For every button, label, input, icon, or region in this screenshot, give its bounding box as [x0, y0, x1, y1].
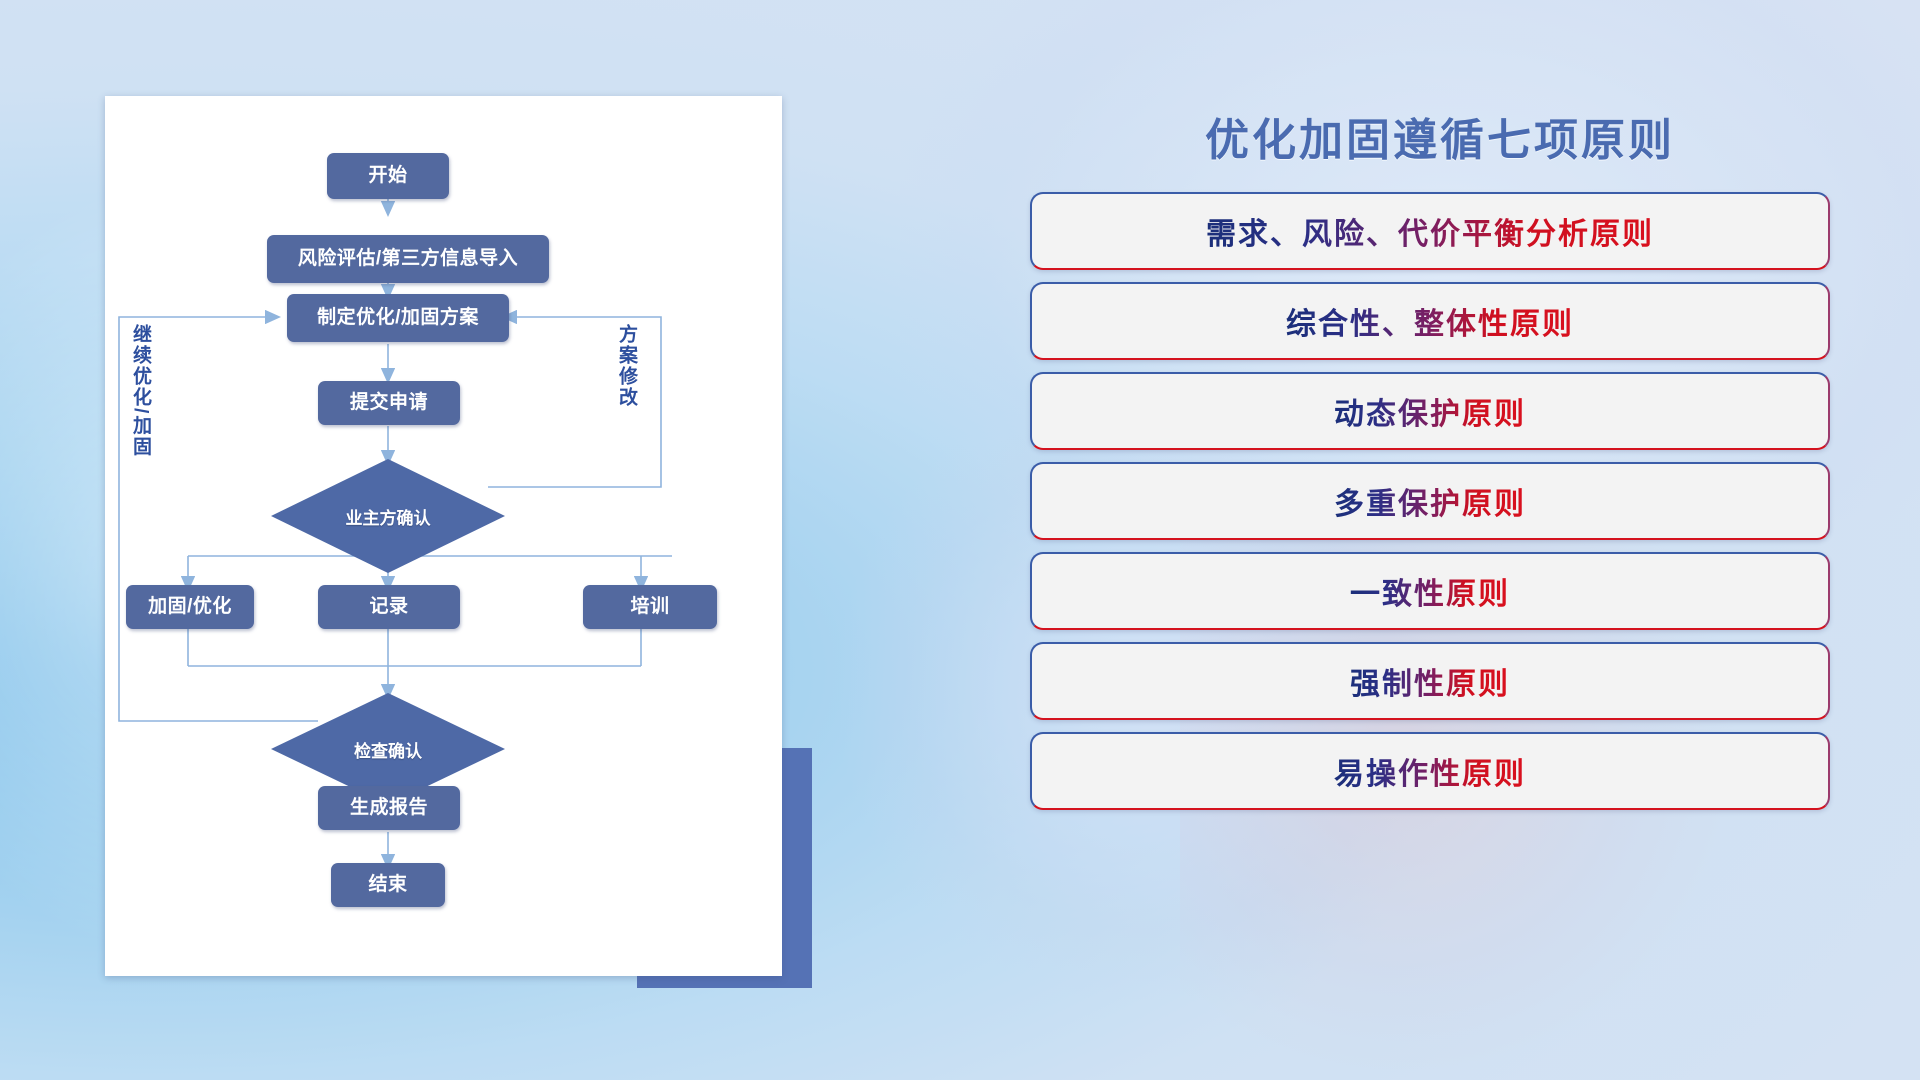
- principle-card-label: 多重保护原则: [1334, 479, 1526, 523]
- principles-panel: 优化加固遵循七项原则 需求、风险、代价平衡分析原则 综合性、整体性原则 动态保护…: [1020, 70, 1860, 1030]
- flow-node-generate-report[interactable]: 生成报告: [318, 786, 460, 830]
- flow-node-label: 结束: [368, 875, 407, 896]
- flow-node-reinforce-optimize[interactable]: 加固/优化: [126, 585, 254, 629]
- flow-node-submit-application[interactable]: 提交申请: [318, 381, 460, 425]
- flow-edge-label-continue-optimize: 继续优化/加固: [127, 324, 154, 457]
- flow-node-training[interactable]: 培训: [583, 585, 717, 629]
- flowchart-canvas: 开始 风险评估/第三方信息导入 制定优化/加固方案 提交申请 业主方确认 加固/…: [105, 96, 782, 976]
- flow-node-label: 加固/优化: [148, 597, 232, 618]
- flow-node-label: 培训: [630, 597, 669, 618]
- principle-card-3[interactable]: 动态保护原则: [1030, 372, 1830, 450]
- flow-node-label: 业主方确认: [346, 504, 431, 529]
- principle-card-label: 强制性原则: [1350, 659, 1510, 703]
- principle-card-7[interactable]: 易操作性原则: [1030, 732, 1830, 810]
- flow-node-record[interactable]: 记录: [318, 585, 460, 629]
- principle-card-4[interactable]: 多重保护原则: [1030, 462, 1830, 540]
- principle-card-label: 需求、风险、代价平衡分析原则: [1206, 209, 1654, 253]
- flow-node-label: 检查确认: [354, 737, 422, 762]
- flow-node-label: 提交申请: [350, 393, 428, 414]
- flow-node-risk-assessment[interactable]: 风险评估/第三方信息导入: [267, 235, 549, 283]
- principle-card-1[interactable]: 需求、风险、代价平衡分析原则: [1030, 192, 1830, 270]
- flow-node-label: 制定优化/加固方案: [317, 308, 479, 329]
- flow-node-label: 生成报告: [350, 798, 428, 819]
- principle-card-label: 动态保护原则: [1334, 389, 1526, 433]
- flowchart-card: 开始 风险评估/第三方信息导入 制定优化/加固方案 提交申请 业主方确认 加固/…: [105, 96, 782, 976]
- flow-node-label: 开始: [368, 166, 407, 187]
- flow-node-start[interactable]: 开始: [327, 153, 449, 199]
- principle-card-label: 易操作性原则: [1334, 749, 1526, 793]
- principle-card-label: 一致性原则: [1350, 569, 1510, 613]
- principles-panel-title: 优化加固遵循七项原则: [1020, 104, 1860, 168]
- flow-node-label: 记录: [369, 597, 408, 618]
- principle-card-label: 综合性、整体性原则: [1286, 299, 1574, 343]
- principle-card-2[interactable]: 综合性、整体性原则: [1030, 282, 1830, 360]
- flow-node-label: 风险评估/第三方信息导入: [298, 249, 518, 270]
- principle-card-6[interactable]: 强制性原则: [1030, 642, 1830, 720]
- flow-node-make-plan[interactable]: 制定优化/加固方案: [287, 294, 509, 342]
- flow-node-end[interactable]: 结束: [331, 863, 445, 907]
- principle-card-5[interactable]: 一致性原则: [1030, 552, 1830, 630]
- flow-edge-label-plan-revision: 方案修改: [613, 324, 640, 408]
